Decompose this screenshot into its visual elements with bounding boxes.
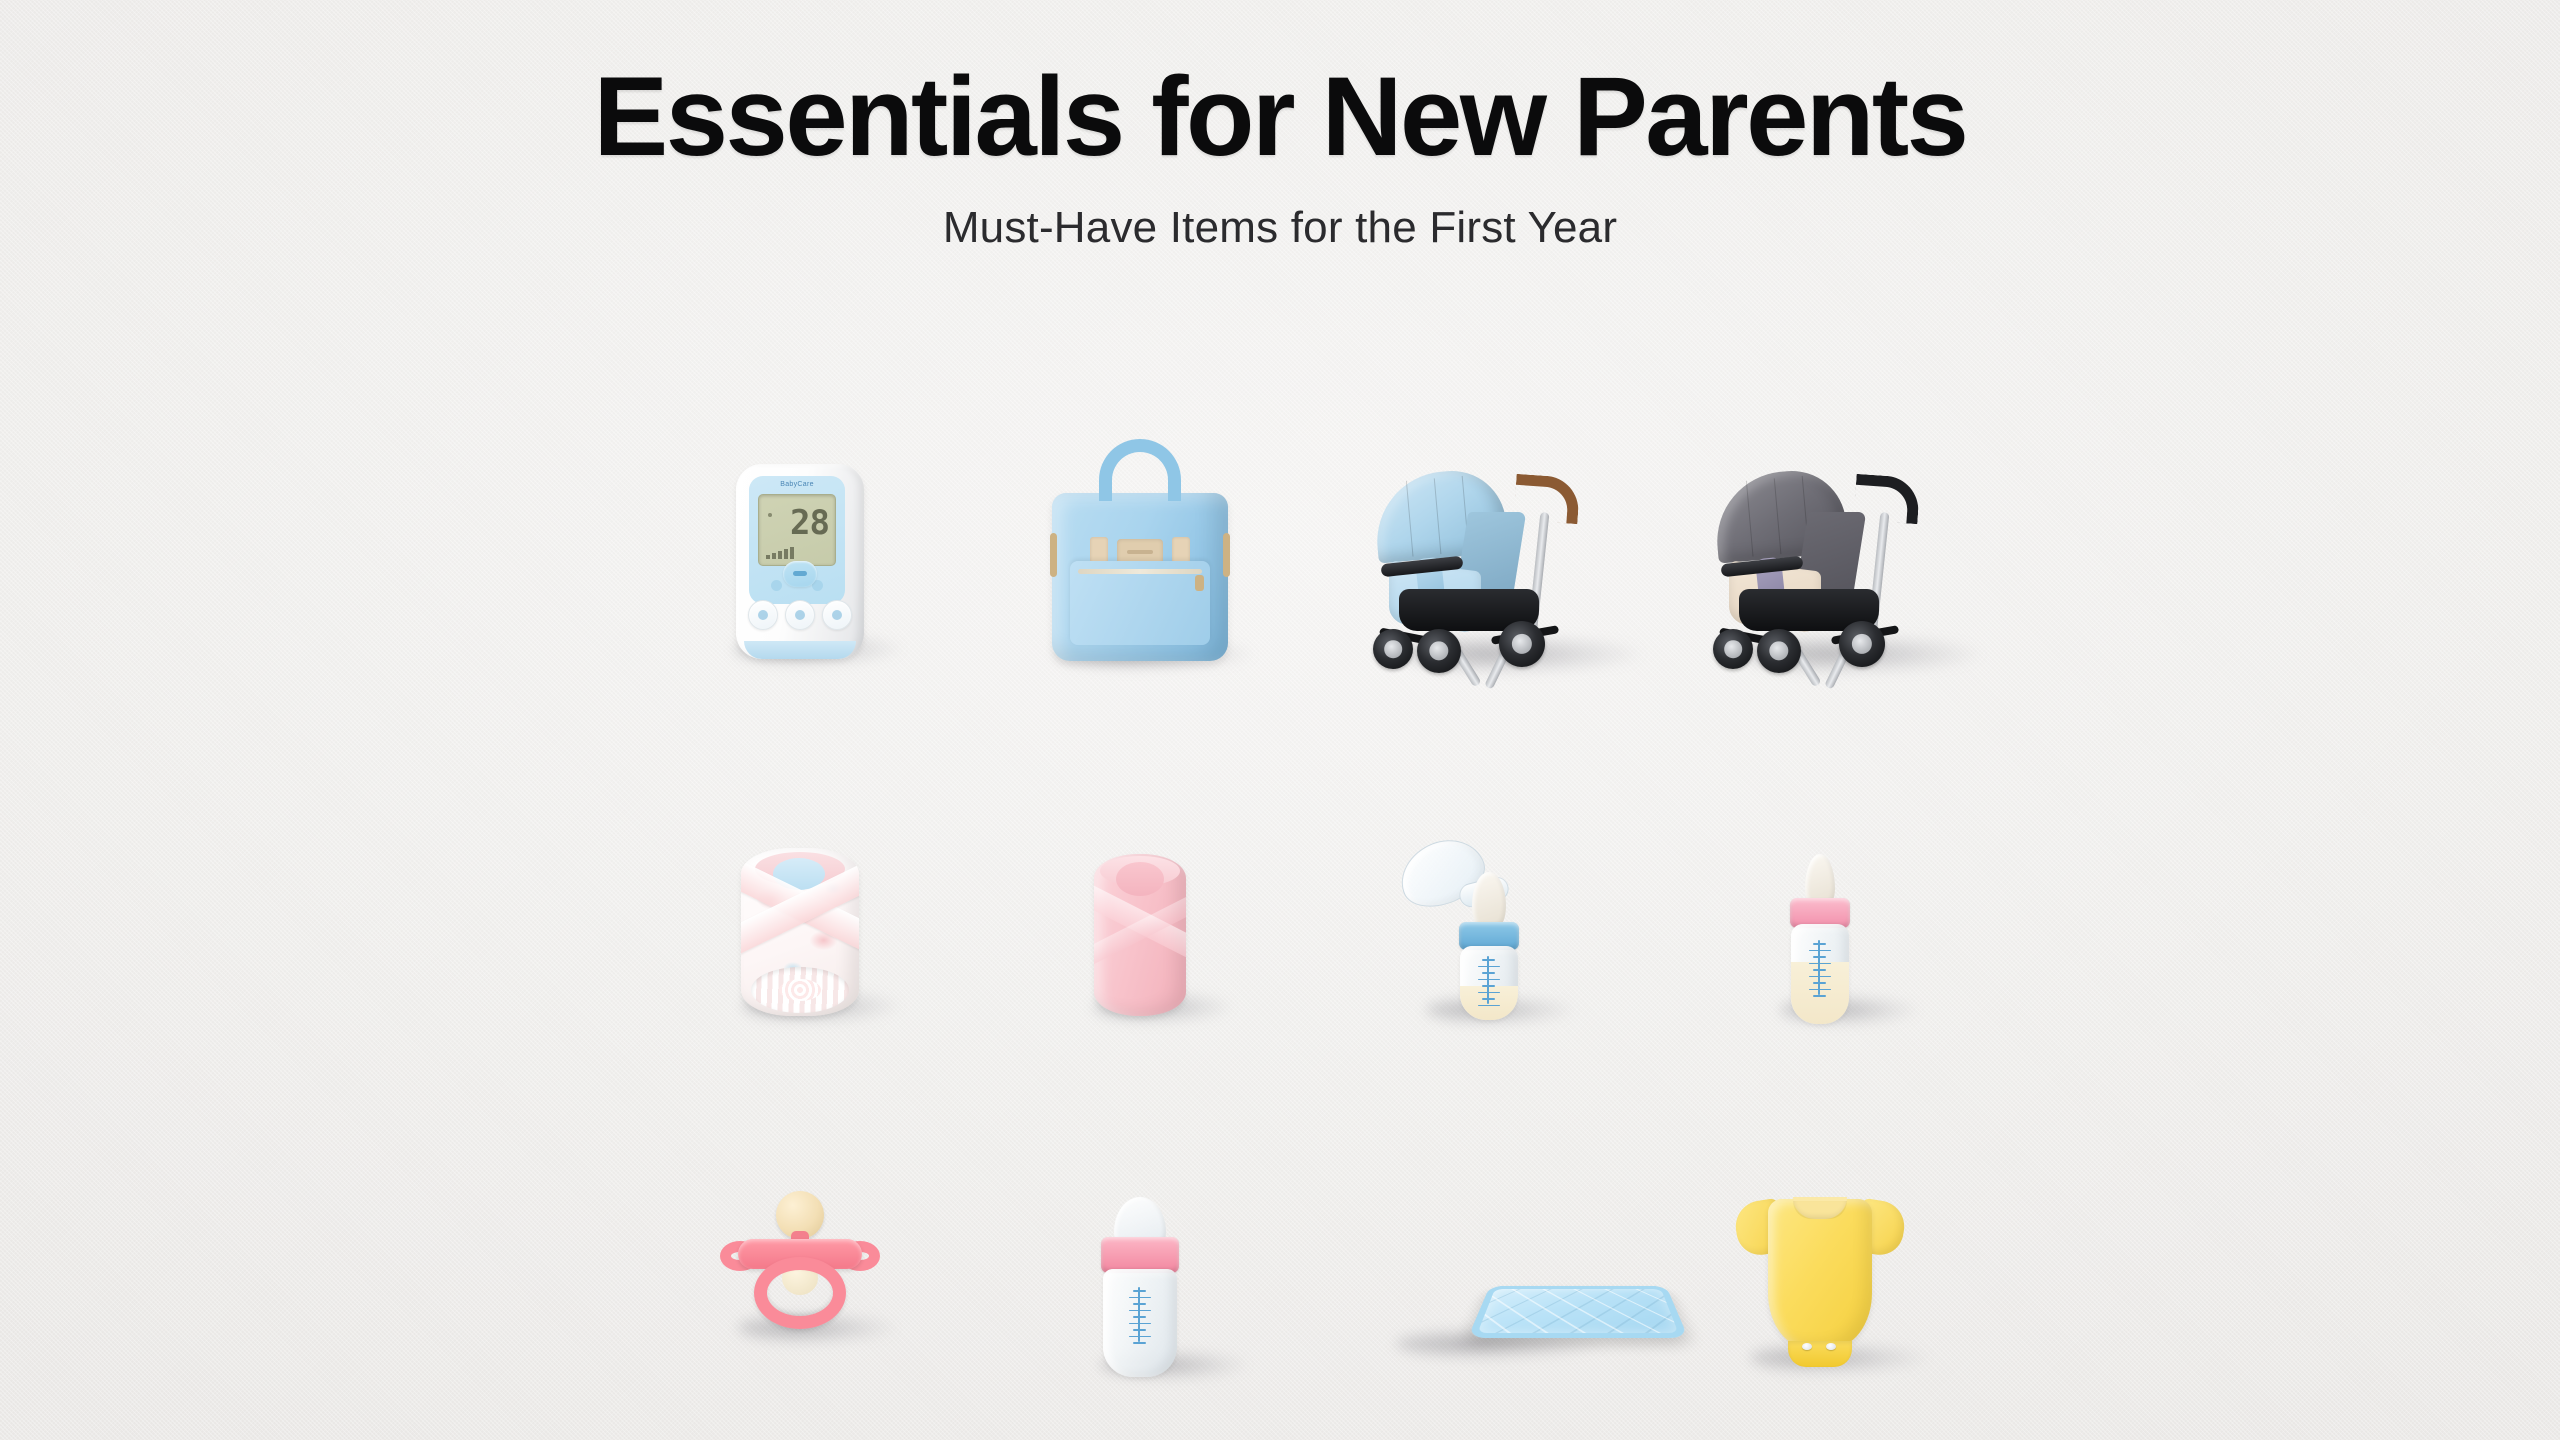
product-cell-pacifier[interactable] — [630, 1036, 970, 1389]
pacifier-icon — [720, 1191, 880, 1331]
stroller-wheel — [1839, 621, 1885, 667]
monitor-button-menu[interactable] — [785, 600, 815, 630]
page-subtitle: Must-Have Items for the First Year — [0, 203, 2560, 253]
stroller-wheel — [1713, 629, 1753, 669]
product-cell-diaper-bag[interactable] — [970, 330, 1310, 683]
swaddle-blanket-icon — [741, 848, 859, 1016]
product-cell-onesie[interactable] — [1650, 1036, 1990, 1389]
bottle-measurement-scale — [1809, 938, 1831, 997]
onesie-snap — [1826, 1343, 1836, 1350]
bottle-body — [1460, 946, 1518, 1020]
bottle-measurement-scale — [1129, 1285, 1151, 1344]
monitor-talk-button[interactable] — [783, 561, 817, 587]
onesie-snap — [1802, 1343, 1812, 1350]
bottle-collar — [1101, 1237, 1179, 1273]
poster-header: Essentials for New Parents Must-Have Ite… — [0, 0, 2560, 253]
monitor-lcd-reading: 28 — [790, 503, 829, 543]
product-grid: BabyCare 28 — [630, 330, 1990, 1390]
swaddle-wrap-pink-icon — [1094, 854, 1186, 1016]
monitor-side-button-left[interactable] — [771, 580, 782, 591]
product-cell-swaddle-pink[interactable] — [970, 683, 1310, 1036]
stroller-gray-icon — [1705, 468, 1935, 673]
changing-pad-icon — [1468, 1286, 1689, 1338]
pacifier-ring — [754, 1257, 846, 1329]
monitor-brand-label: BabyCare — [780, 481, 814, 488]
product-cell-stroller-gray[interactable] — [1650, 330, 1990, 683]
bottle-measurement-scale — [1478, 954, 1500, 1006]
breast-pump-icon — [1405, 842, 1555, 1022]
diaper-bag-icon — [1052, 493, 1228, 661]
monitor-button-volume[interactable] — [822, 600, 852, 630]
product-cell-changing-pad[interactable] — [1310, 1036, 1650, 1389]
baby-monitor-icon: BabyCare 28 — [736, 464, 864, 659]
poster-canvas: Essentials for New Parents Must-Have Ite… — [0, 0, 2560, 1440]
stroller-wheel — [1373, 629, 1413, 669]
bag-zipper — [1078, 569, 1202, 574]
baby-bottle-icon — [1760, 854, 1880, 1024]
page-title: Essentials for New Parents — [0, 58, 2560, 177]
product-cell-swaddle-patterned[interactable] — [630, 683, 970, 1036]
monitor-lcd-screen: 28 — [758, 494, 836, 566]
product-cell-stroller-blue[interactable] — [1310, 330, 1650, 683]
stroller-wheel — [1417, 629, 1461, 673]
bottle-body — [1791, 924, 1849, 1024]
bag-front-pocket — [1070, 561, 1210, 645]
product-cell-breast-pump[interactable] — [1310, 683, 1650, 1036]
bottle-body — [1103, 1269, 1177, 1377]
onesie-icon — [1730, 1185, 1910, 1367]
stroller-wheel — [1757, 629, 1801, 673]
onesie-torso — [1768, 1199, 1872, 1349]
onesie-crotch-flap — [1788, 1341, 1852, 1367]
stroller-blue-icon — [1365, 468, 1595, 673]
bag-handle — [1099, 439, 1181, 501]
product-cell-bottle-wide-neck[interactable] — [970, 1036, 1310, 1389]
wide-neck-bottle-icon — [1075, 1197, 1205, 1377]
product-cell-baby-monitor[interactable]: BabyCare 28 — [630, 330, 970, 683]
product-cell-baby-bottle-pink[interactable] — [1650, 683, 1990, 1036]
monitor-button-power[interactable] — [748, 600, 778, 630]
stroller-wheel — [1499, 621, 1545, 667]
